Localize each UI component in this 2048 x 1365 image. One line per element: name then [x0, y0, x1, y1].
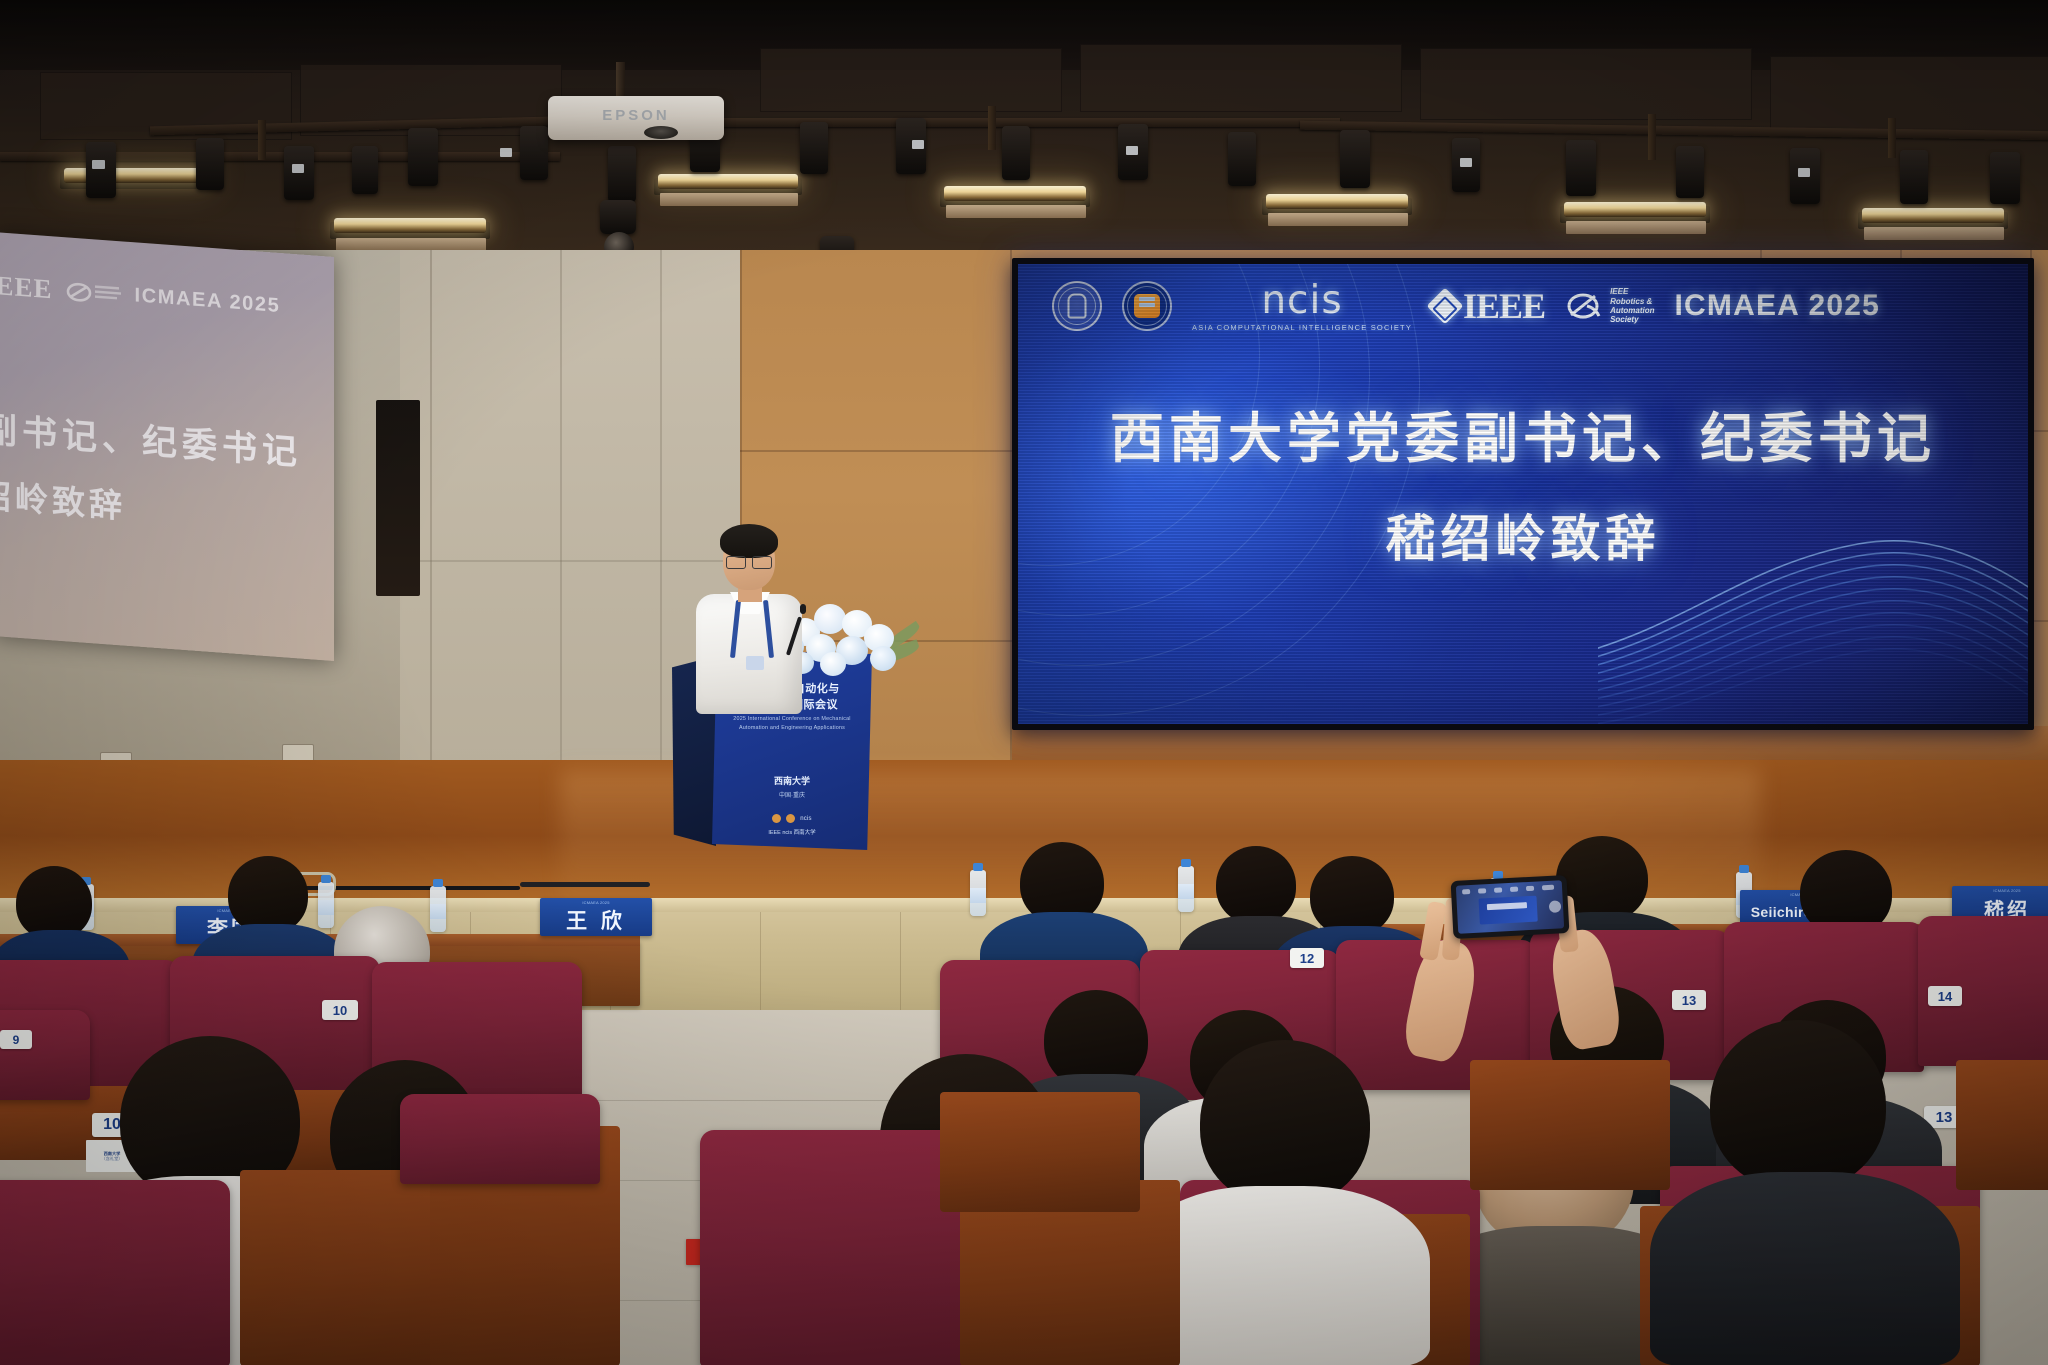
podium-seal-icon: [772, 814, 781, 823]
wall-seam: [740, 450, 1040, 452]
stage-spotlight: [352, 146, 378, 194]
truss-support: [988, 106, 996, 150]
projector-brand-label: EPSON: [548, 107, 724, 124]
phone-screen: [1456, 880, 1564, 933]
audience-head: [1216, 846, 1296, 924]
water-bottle: [1178, 866, 1194, 912]
seat-number-13: 13: [1672, 990, 1706, 1010]
icmaea-wordmark: ICMAEA 2025: [135, 284, 281, 318]
stage-spotlight: [408, 128, 438, 186]
stage-spotlight: [520, 126, 548, 180]
wall-seam: [400, 560, 740, 562]
seat-back[interactable]: [0, 1010, 90, 1100]
audience-head: [1710, 1020, 1886, 1190]
led-vignette: [1018, 264, 2028, 724]
stage-spotlight: [608, 146, 636, 202]
light-reflector: [1864, 227, 2004, 240]
fixture-tag: [92, 160, 105, 169]
ceiling-panel: [1420, 48, 1752, 120]
ieee-logo: IEEE: [0, 269, 53, 305]
podium-logo-row: ncis: [712, 814, 872, 823]
speaker-glasses-icon: [726, 556, 772, 567]
stage-spotlight: [1676, 146, 1704, 198]
smartphone-recording[interactable]: [1451, 875, 1570, 939]
stage-spotlight: [1990, 152, 2020, 204]
microphone-head: [800, 604, 806, 614]
fixture-tag: [912, 140, 924, 149]
podium-ncis-mark: ncis: [800, 816, 811, 822]
water-bottle: [970, 870, 986, 916]
stage-spotlight: [1228, 132, 1256, 186]
seat-number-9: 9: [0, 1030, 32, 1049]
podium-city: 中国·重庆: [712, 790, 872, 799]
stage-spotlight: [1002, 126, 1030, 180]
water-bottle: [430, 886, 446, 932]
projection-screen-logo-row: IEEE ICMAEA 2025: [0, 269, 324, 325]
podium-english-line1: 2025 International Conference on Mechani…: [712, 716, 872, 722]
water-bottle: [318, 882, 334, 928]
ceiling-light-bar: [334, 218, 486, 233]
light-reflector: [946, 205, 1086, 218]
ieee-ras-icon: [65, 280, 123, 306]
fixture-tag: [292, 164, 304, 173]
projection-title-line2: 绍岭致辞: [0, 469, 308, 541]
stage-spotlight: [1340, 130, 1370, 188]
ceiling-light-bar: [944, 186, 1086, 201]
fixture-tag: [1798, 168, 1810, 177]
stage-spotlight: [1900, 150, 1928, 204]
audience-shoulders: [1650, 1172, 1960, 1365]
fixture-tag: [1126, 146, 1138, 155]
seat-back[interactable]: [700, 1130, 980, 1365]
stage-door[interactable]: [376, 400, 420, 596]
lighting-truss: [620, 118, 1340, 127]
light-reflector: [1268, 213, 1408, 226]
seat-back[interactable]: [400, 1094, 600, 1184]
seat-wood-back[interactable]: [1470, 1060, 1670, 1190]
ceiling-light-bar: [1266, 194, 1408, 209]
audience-head: [228, 856, 308, 934]
fixture-tag: [1460, 158, 1472, 167]
light-reflector: [660, 193, 798, 206]
podium-english-line2: Automation and Engineering Applications: [712, 725, 872, 731]
led-screen: ncis ASIA COMPUTATIONAL INTELLIGENCE SOC…: [1018, 264, 2028, 724]
seat-number-14: 14: [1928, 986, 1962, 1006]
ceiling-panel: [1770, 56, 2048, 132]
podium-emblem-icon: [786, 814, 795, 823]
ceiling-projector: EPSON: [548, 96, 724, 140]
ceiling-panel: [1080, 44, 1402, 112]
seat-number-12: 12: [1290, 948, 1324, 968]
ceiling-light-bar: [658, 174, 798, 189]
stage-spotlight: [800, 122, 828, 174]
truss-support: [1648, 114, 1656, 160]
podium-organizer: 西南大学: [712, 774, 872, 787]
projection-title-line1: 副书记、纪委书记: [0, 401, 312, 476]
ceiling-panel: [760, 48, 1062, 112]
speaker-badge: [746, 656, 764, 670]
placard-wang-xin: ICMAEA 2025 王 欣: [540, 898, 652, 936]
placard-wang-xin-text: 王 欣: [566, 905, 626, 935]
fixture-tag: [500, 148, 512, 157]
seat-wood-back[interactable]: [1956, 1060, 2048, 1190]
light-reflector: [1566, 221, 1706, 234]
seat-sticker-sub: （含礼堂）: [102, 1156, 123, 1161]
stage-spotlight: [196, 138, 224, 190]
moving-head-light: [600, 200, 636, 234]
truss-support: [258, 120, 266, 160]
projection-screen: IEEE ICMAEA 2025 副书记、纪委书记 绍岭致辞: [0, 232, 334, 661]
ceiling-light-bar: [1862, 208, 2004, 223]
ceiling-light-bar: [1564, 202, 1706, 217]
conference-hall-photo: EPSON IEEE: [0, 0, 2048, 1365]
audience-head: [16, 866, 92, 940]
seat-back[interactable]: [0, 1180, 230, 1365]
speaker-hair: [720, 524, 778, 558]
stage-spotlight: [86, 142, 116, 198]
podium-logo-row-2: IEEE ncis 西南大学: [712, 828, 872, 836]
projector-lens: [644, 126, 678, 139]
audience-head: [1200, 1040, 1370, 1206]
truss-support: [1888, 118, 1896, 158]
stage-spotlight: [1566, 140, 1596, 196]
stage-cable: [520, 882, 650, 887]
stage-spotlight: [284, 146, 314, 200]
audience-head: [1310, 856, 1394, 936]
lighting-truss: [0, 152, 560, 161]
seat-wood-back[interactable]: [940, 1092, 1140, 1212]
